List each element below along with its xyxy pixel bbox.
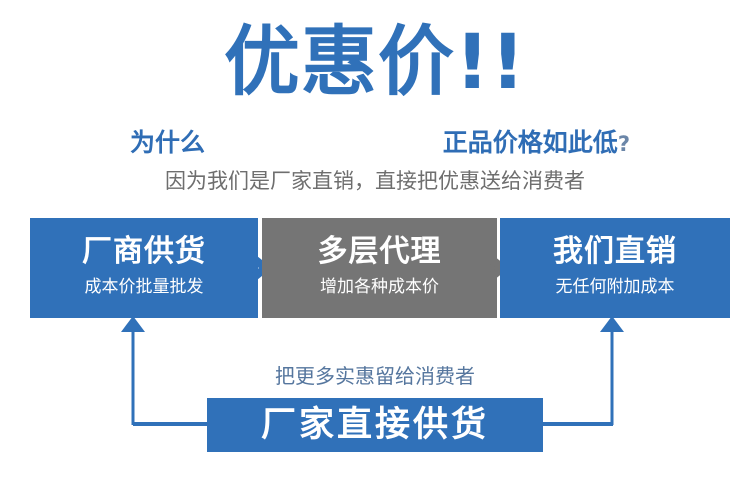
question-right-label: 正品价格如此低 (443, 128, 618, 157)
flow-step-title: 我们直销 (500, 233, 730, 271)
flow-step-direct-sales: 我们直销 无任何附加成本 (500, 218, 730, 318)
bottom-caption-text: 把更多实惠留给消费者 (0, 362, 750, 390)
flow-step-manufacturer: 厂商供货 成本价批量批发 (30, 218, 258, 318)
promo-banner: 优惠价!! 为什么 正品价格如此低? 因为我们是厂家直销，直接把优惠送给消费者 … (0, 0, 750, 480)
flow-step-subtitle: 无任何附加成本 (500, 274, 730, 300)
flow-step-agents: 多层代理 增加各种成本价 (262, 218, 497, 318)
flow-step-title: 厂商供货 (30, 233, 258, 271)
page-title: 优惠价!! (0, 14, 750, 110)
bottom-highlight-text: 厂家直接供货 (207, 398, 543, 452)
question-right-text: 正品价格如此低? (443, 126, 630, 161)
connector-stub-right (541, 423, 613, 426)
question-row: 为什么 正品价格如此低? (130, 126, 630, 160)
flow-step-title: 多层代理 (262, 233, 497, 271)
flow-step-subtitle: 成本价批量批发 (30, 274, 258, 300)
question-left-text: 为什么 (130, 126, 205, 160)
answer-text: 因为我们是厂家直销，直接把优惠送给消费者 (0, 166, 750, 196)
flow-step-subtitle: 增加各种成本价 (262, 274, 497, 300)
question-mark: ? (618, 132, 630, 156)
bottom-highlight-box: 厂家直接供货 (207, 398, 543, 452)
connector-stub-left (133, 423, 209, 426)
